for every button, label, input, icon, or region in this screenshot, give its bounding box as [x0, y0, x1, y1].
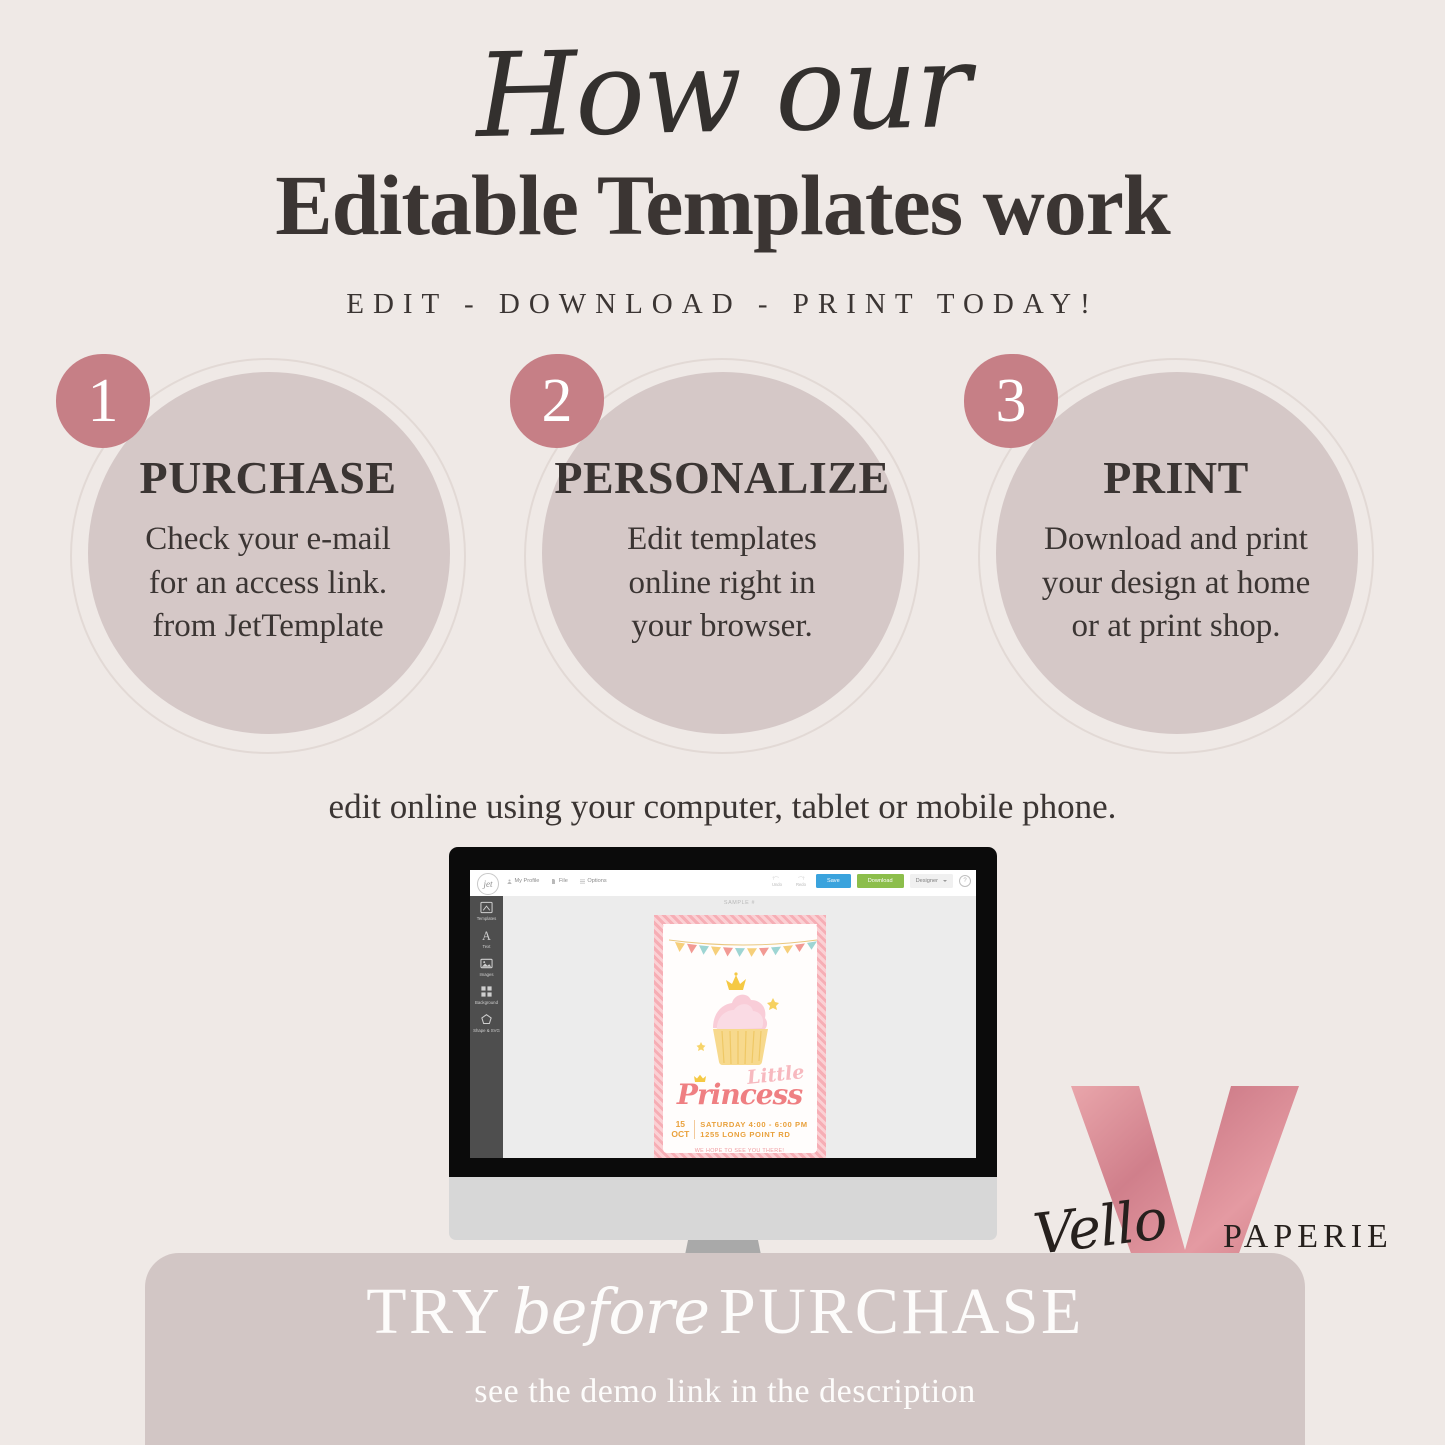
sidebar-label: Background — [475, 1000, 498, 1005]
headline-main: Editable Templates work — [0, 162, 1445, 248]
step-desc-line: online right in — [524, 562, 920, 606]
chevron-down-icon — [943, 880, 947, 882]
card-inner: Little Princess 15 OCT SA — [663, 924, 817, 1153]
step-title: PRINT — [978, 454, 1374, 502]
card-divider — [694, 1120, 695, 1139]
headline-sub: EDIT - DOWNLOAD - PRINT TODAY! — [0, 288, 1445, 321]
step-desc-line: your design at home — [978, 562, 1374, 606]
undo-label: Undo — [772, 882, 782, 887]
step-number-badge: 3 — [964, 354, 1058, 448]
step-desc-line: Download and print — [978, 518, 1374, 562]
steps-row: 1 PURCHASE Check your e-mail for an acce… — [0, 358, 1445, 758]
step-desc-line: Check your e-mail — [70, 518, 466, 562]
card-footer: WE HOPE TO SEE YOU THERE! — [663, 1148, 817, 1154]
background-icon — [480, 985, 493, 998]
invitation-card[interactable]: Little Princess 15 OCT SA — [654, 915, 826, 1158]
card-title-main: Princess — [663, 1081, 817, 1109]
step-title: PERSONALIZE — [524, 454, 920, 502]
save-button[interactable]: Save — [816, 874, 851, 888]
step-desc-line: or at print shop. — [978, 605, 1374, 649]
editor-screen: jet My Profile File — [470, 870, 976, 1158]
banner-headline: TRYbeforePURCHASE — [145, 1279, 1305, 1345]
redo-label: Redo — [796, 882, 806, 887]
menu-item-file[interactable]: File — [551, 878, 568, 884]
sliders-icon — [580, 879, 585, 884]
card-info-line-1: SATURDAY 4:00 - 6:00 PM — [700, 1120, 807, 1129]
step-body: PURCHASE Check your e-mail for an access… — [70, 454, 466, 649]
step-card-3: 3 PRINT Download and print your design a… — [978, 358, 1374, 754]
headline-script: How our — [0, 19, 1445, 165]
cupcake-icon — [685, 968, 795, 1068]
editor-sidebar: Templates A Text Images — [470, 896, 503, 1158]
step-body: PERSONALIZE Edit templates online right … — [524, 454, 920, 649]
editor-canvas[interactable]: SAMPLE # — [503, 896, 976, 1158]
step-card-2: 2 PERSONALIZE Edit templates online righ… — [524, 358, 920, 754]
monitor-chin — [449, 1177, 997, 1240]
step-card-1: 1 PURCHASE Check your e-mail for an acce… — [70, 358, 466, 754]
step-number-badge: 1 — [56, 354, 150, 448]
menu-item-my-profile[interactable]: My Profile — [507, 878, 539, 884]
sidebar-label: Images — [479, 972, 493, 977]
svg-text:A: A — [482, 929, 491, 942]
sidebar-item-background[interactable]: Background — [470, 985, 503, 1005]
sidebar-label: Text — [483, 944, 491, 949]
templates-icon — [480, 901, 493, 914]
redo-button[interactable]: Redo — [792, 875, 810, 887]
sidebar-item-templates[interactable]: Templates — [470, 901, 503, 921]
file-icon — [551, 879, 556, 884]
text-icon: A — [480, 929, 493, 942]
download-button[interactable]: Download — [857, 874, 904, 888]
menu-label: My Profile — [515, 878, 540, 884]
designer-dropdown[interactable]: Designer — [910, 874, 953, 888]
menu-label: File — [559, 878, 568, 884]
sidebar-item-shape-svg[interactable]: Shape & SVG — [470, 1013, 503, 1033]
sidebar-item-images[interactable]: Images — [470, 957, 503, 977]
bottom-banner: TRYbeforePURCHASE see the demo link in t… — [145, 1253, 1305, 1445]
step-number-badge: 2 — [510, 354, 604, 448]
card-date: 15 OCT — [671, 1120, 689, 1138]
monitor-mockup: jet My Profile File — [449, 847, 997, 1267]
card-info: 15 OCT SATURDAY 4:00 - 6:00 PM 1255 LONG… — [663, 1120, 817, 1139]
poster-canvas: How our Editable Templates work EDIT - D… — [0, 0, 1445, 1445]
menu-label: Options — [587, 878, 606, 884]
sidebar-item-text[interactable]: A Text — [470, 929, 503, 949]
menu-item-options[interactable]: Options — [580, 878, 607, 884]
banner-subline: see the demo link in the description — [145, 1373, 1305, 1411]
help-icon[interactable]: ? — [959, 875, 971, 887]
editor-menu: My Profile File Options — [507, 878, 607, 884]
step-description: Check your e-mail for an access link. fr… — [70, 518, 466, 649]
device-caption: edit online using your computer, tablet … — [0, 787, 1445, 827]
logo-wordmark: PAPERIE — [1223, 1218, 1393, 1256]
card-info-line-2: 1255 LONG POINT RD — [700, 1130, 807, 1139]
card-date-month: OCT — [671, 1130, 689, 1139]
canvas-label: SAMPLE # — [503, 900, 976, 906]
banner-before: before — [502, 1275, 719, 1348]
undo-button[interactable]: Undo — [768, 875, 786, 887]
banner-try: TRY — [366, 1275, 502, 1348]
step-desc-line: your browser. — [524, 605, 920, 649]
banner-purchase: PURCHASE — [719, 1275, 1084, 1348]
step-desc-line: from JetTemplate — [70, 605, 466, 649]
editor-toolbar: jet My Profile File — [470, 870, 976, 897]
user-icon — [507, 879, 512, 884]
step-title: PURCHASE — [70, 454, 466, 502]
step-desc-line: Edit templates — [524, 518, 920, 562]
bunting-icon — [667, 937, 819, 963]
sidebar-label: Templates — [477, 916, 497, 921]
step-body: PRINT Download and print your design at … — [978, 454, 1374, 649]
sidebar-label: Shape & SVG — [473, 1028, 500, 1033]
step-description: Download and print your design at home o… — [978, 518, 1374, 649]
jet-logo-icon[interactable]: jet — [477, 873, 499, 895]
shape-svg-icon — [480, 1013, 493, 1026]
card-details: SATURDAY 4:00 - 6:00 PM 1255 LONG POINT … — [700, 1120, 807, 1139]
editor-actions: Undo Redo Save Download Designer ? — [768, 874, 971, 888]
step-desc-line: for an access link. — [70, 562, 466, 606]
images-icon — [480, 957, 493, 970]
step-description: Edit templates online right in your brow… — [524, 518, 920, 649]
designer-label: Designer — [916, 878, 938, 884]
